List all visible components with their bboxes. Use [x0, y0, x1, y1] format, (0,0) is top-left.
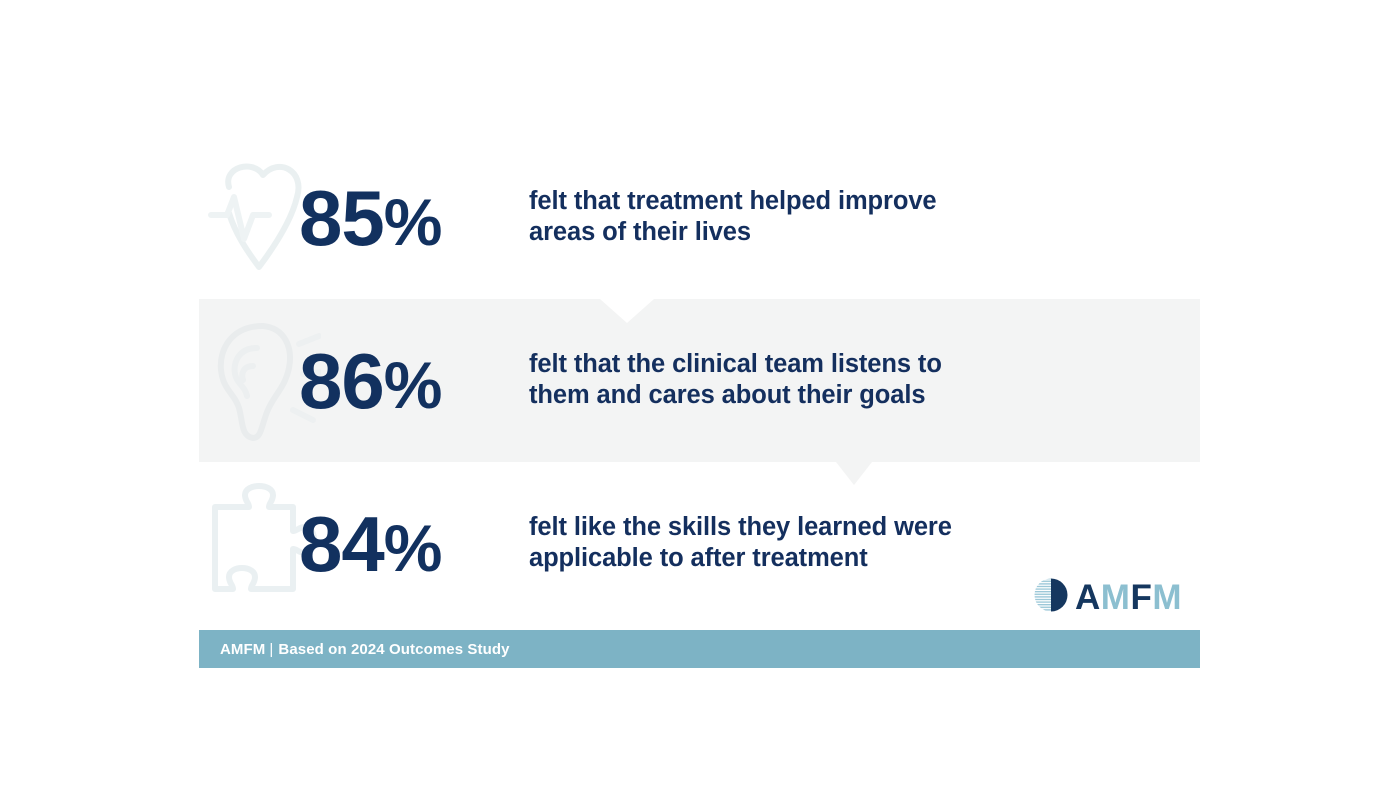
percent-number: 85 — [299, 174, 384, 262]
amfm-letter-f: F — [1130, 578, 1152, 617]
infographic-canvas: 85% felt that treatment helped improve a… — [0, 0, 1400, 800]
stat-description-line-2: areas of their lives — [529, 218, 1169, 250]
amfm-circle-logo-icon — [1034, 578, 1068, 617]
footer-caption: AMFM|Based on 2024 Outcomes Study — [220, 641, 510, 658]
stat-percent-value: 86% — [299, 342, 499, 420]
stat-description: felt like the skills they learned were a… — [529, 512, 1169, 576]
footer-brand: AMFM — [220, 641, 265, 658]
amfm-letter-m2: M — [1152, 578, 1182, 617]
stat-description: felt that treatment helped improve areas… — [529, 186, 1169, 250]
footer-source-text: Based on 2024 Outcomes Study — [278, 641, 509, 658]
percent-symbol: % — [384, 348, 442, 422]
footer-separator: | — [269, 641, 273, 658]
stat-description-line-1: felt like the skills they learned were — [529, 512, 1169, 544]
percent-number: 86 — [299, 337, 384, 425]
percent-number: 84 — [299, 500, 384, 588]
stat-percent-value: 85% — [299, 179, 499, 257]
amfm-wordmark: AMFM — [1075, 580, 1182, 615]
stat-row-85: 85% felt that treatment helped improve a… — [199, 136, 1200, 299]
amfm-letter-m1: M — [1101, 578, 1131, 617]
stat-percent-value: 84% — [299, 505, 499, 583]
stat-description-line-1: felt that the clinical team listens to — [529, 349, 1169, 381]
amfm-logo: AMFM — [1034, 578, 1182, 617]
stat-description-line-1: felt that treatment helped improve — [529, 186, 1169, 218]
stat-description: felt that the clinical team listens to t… — [529, 349, 1169, 413]
amfm-letter-a: A — [1075, 578, 1101, 617]
stat-row-86: 86% felt that the clinical team listens … — [199, 299, 1200, 462]
stat-description-line-2: them and cares about their goals — [529, 381, 1169, 413]
percent-symbol: % — [384, 185, 442, 259]
stat-description-line-2: applicable to after treatment — [529, 544, 1169, 576]
percent-symbol: % — [384, 511, 442, 585]
footer-bar: AMFM|Based on 2024 Outcomes Study — [199, 630, 1200, 668]
